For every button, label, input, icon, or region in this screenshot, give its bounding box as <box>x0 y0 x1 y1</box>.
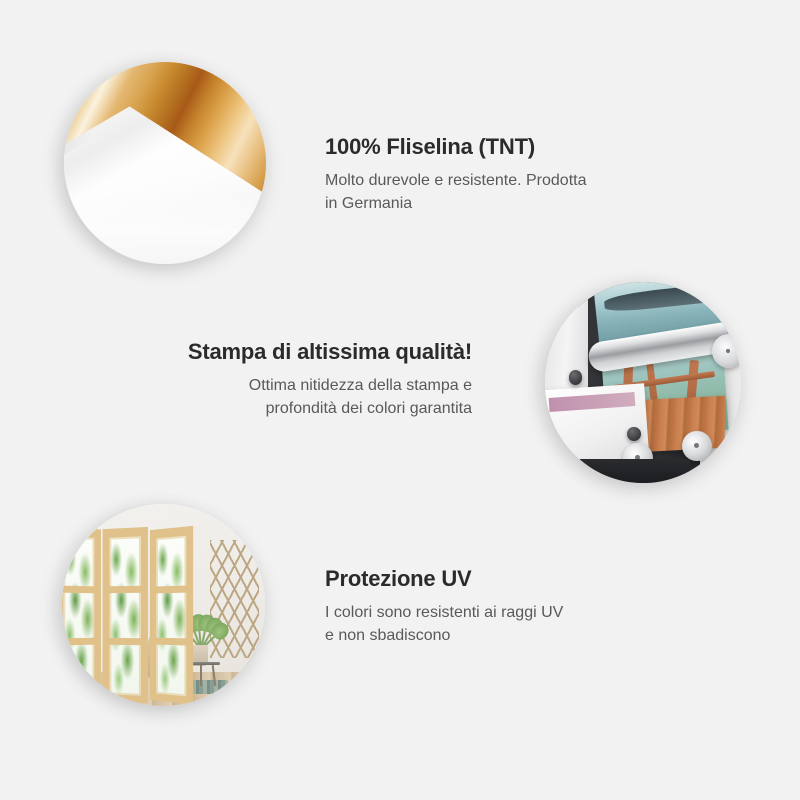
feature-1-title: 100% Fliselina (TNT) <box>325 134 685 159</box>
feature-2-image <box>545 282 741 483</box>
side-table-leg <box>200 665 202 686</box>
panel-rail <box>109 586 141 593</box>
feature-1-body: Molto durevole e resistente. Prodotta in… <box>325 169 685 215</box>
feature-2-body: Ottima nitidezza della stampa e profondi… <box>110 374 472 420</box>
panel-rail <box>156 586 186 594</box>
divider-panel-2 <box>103 527 148 703</box>
feature-3-text-block: Protezione UV I colori sono resistenti a… <box>325 566 685 648</box>
feature-1-image <box>64 62 266 264</box>
panel-rail <box>63 586 94 594</box>
machine-knob-left <box>569 370 583 384</box>
machine-base <box>580 459 690 483</box>
machine-wheel-right <box>682 431 711 461</box>
panel-rail <box>109 638 141 645</box>
divider-panel-3 <box>150 526 193 704</box>
panel-rail <box>156 638 186 646</box>
infographic-canvas: 100% Fliselina (TNT) Molto durevole e re… <box>0 0 800 800</box>
feature-3-image <box>62 504 265 706</box>
side-table-leg <box>211 665 216 686</box>
feature-2-title: Stampa di altissima qualità! <box>110 339 472 364</box>
feature-3-body: I colori sono resistenti ai raggi UV e n… <box>325 601 685 647</box>
feature-3-title: Protezione UV <box>325 566 685 591</box>
machine-knob-center <box>627 427 641 441</box>
paper-bottom-fade <box>64 195 266 264</box>
divider-panel-1 <box>62 527 101 704</box>
feature-1-text-block: 100% Fliselina (TNT) Molto durevole e re… <box>325 134 685 216</box>
printing-machine-illustration <box>545 282 741 483</box>
room-divider-illustration <box>62 504 265 706</box>
tropical-room-divider <box>62 528 194 702</box>
feature-2-text-block: Stampa di altissima qualità! Ottima niti… <box>110 339 472 421</box>
wallpaper-roll-illustration <box>64 62 266 264</box>
panel-rail <box>63 638 94 646</box>
